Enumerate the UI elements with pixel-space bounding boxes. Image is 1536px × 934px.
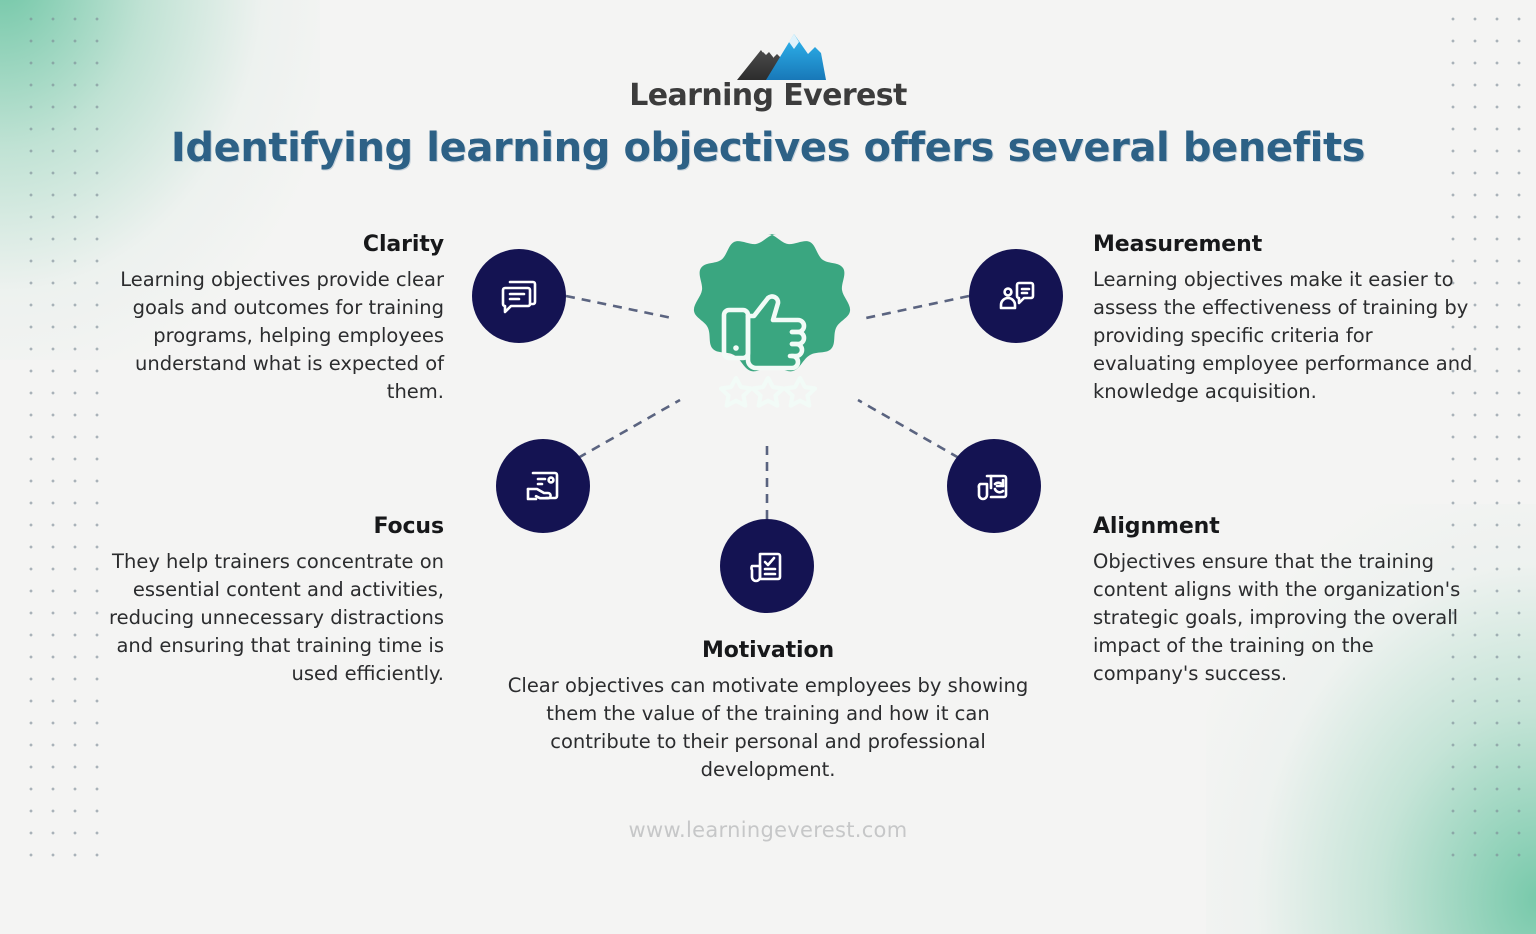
connector-measurement	[866, 296, 969, 318]
benefit-text-measurement: Measurement Learning objectives make it …	[1093, 232, 1475, 406]
hand-presentation-icon	[520, 463, 566, 509]
footer-website-url[interactable]: www.learningeverest.com	[0, 818, 1536, 842]
benefit-body-alignment: Objectives ensure that the training cont…	[1093, 548, 1475, 688]
benefit-node-motivation[interactable]	[720, 519, 814, 613]
thumbs-up-three-stars-icon	[668, 232, 868, 439]
benefit-text-clarity: Clarity Learning objectives provide clea…	[82, 232, 444, 406]
center-badge	[668, 232, 868, 439]
connector-focus	[578, 400, 680, 458]
benefit-heading-motivation: Motivation	[500, 638, 1036, 663]
document-sync-icon	[971, 463, 1017, 509]
connector-clarity	[566, 296, 672, 318]
benefit-text-motivation: Motivation Clear objectives can motivate…	[500, 638, 1036, 784]
benefit-text-alignment: Alignment Objectives ensure that the tra…	[1093, 514, 1475, 688]
benefit-heading-alignment: Alignment	[1093, 514, 1475, 539]
chat-bubbles-icon	[496, 273, 542, 319]
benefit-text-focus: Focus They help trainers concentrate on …	[82, 514, 444, 688]
benefit-heading-focus: Focus	[82, 514, 444, 539]
benefit-node-clarity[interactable]	[472, 249, 566, 343]
checklist-clipboard-icon	[744, 543, 790, 589]
benefit-node-focus[interactable]	[496, 439, 590, 533]
benefit-node-alignment[interactable]	[947, 439, 1041, 533]
benefit-body-clarity: Learning objectives provide clear goals …	[82, 266, 444, 406]
benefit-heading-measurement: Measurement	[1093, 232, 1475, 257]
benefit-node-measurement[interactable]	[969, 249, 1063, 343]
benefit-body-focus: They help trainers concentrate on essent…	[82, 548, 444, 688]
benefit-body-motivation: Clear objectives can motivate employees …	[500, 672, 1036, 784]
person-speech-bubble-icon	[993, 273, 1039, 319]
connector-alignment	[858, 400, 959, 458]
benefit-body-measurement: Learning objectives make it easier to as…	[1093, 266, 1475, 406]
benefit-heading-clarity: Clarity	[82, 232, 444, 257]
